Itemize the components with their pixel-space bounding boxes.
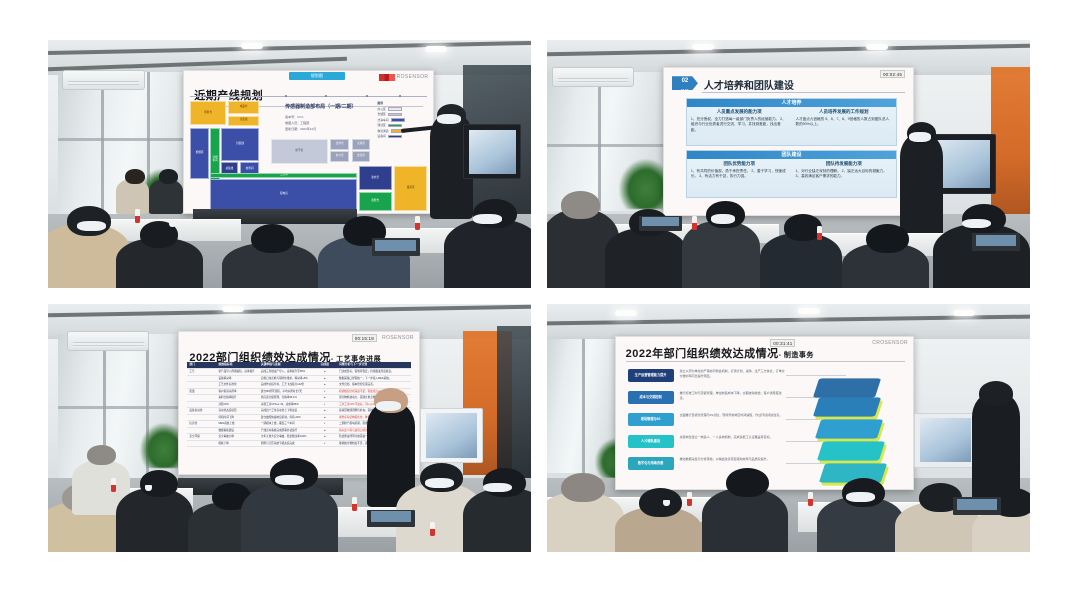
cell: 关键工序CPK≥1.33，达成率86%	[259, 402, 313, 408]
audience-head	[140, 470, 179, 497]
layout-block: 配电房	[210, 179, 357, 210]
section-number: 02	[682, 78, 689, 84]
cell: 安全环保	[187, 434, 216, 440]
cell: 自动化改造项目	[216, 408, 258, 414]
audience-person	[760, 233, 842, 288]
column-header: 问题分析与下一步计划	[337, 362, 411, 368]
layout-block: 检测区	[190, 128, 209, 179]
stack-label: 生产运营管理能力提升	[628, 369, 674, 382]
cell: 停机时间下降	[216, 415, 258, 421]
section-column: 人员培养发展的工作规划 人才盘点九宫格的 5、6、7、8、9宫格的人数占到团队总…	[791, 107, 896, 135]
brand-logo: CROSENSOR	[872, 340, 908, 346]
logo-mark-icon	[379, 74, 395, 81]
section-column: 团队待发展能力项 1、对行业缺乏深刻的理解。 2、缺乏远大目标的凝聚力。 3、高…	[791, 159, 896, 181]
column-header: 关键举措与进展	[259, 362, 313, 368]
water-bottle	[808, 492, 813, 506]
cell: 安全事故为零	[216, 434, 258, 440]
cell: ◐	[313, 421, 338, 427]
cell: ●	[313, 376, 338, 382]
layout-block: 包装线	[228, 116, 259, 126]
cell: ◐	[313, 389, 338, 395]
audience-person	[682, 221, 759, 288]
cell	[187, 402, 216, 408]
diagram-title: 传感器制造部布局（一期/二期）	[285, 103, 356, 110]
water-bottle	[687, 492, 692, 506]
title-divider	[702, 92, 905, 93]
stack-desc: 推动数据采集与分析落地，以精益改善项目驱动效率与品质双提升。	[680, 457, 785, 462]
cell: 来料合格率提升	[216, 395, 258, 401]
layout-block: 缓存区	[394, 166, 427, 211]
layout-block: 烘干房	[271, 139, 328, 164]
legend-title: 图例	[377, 101, 425, 105]
timestamp-badge: 00:15:18	[352, 334, 377, 342]
cell: ●	[313, 408, 338, 414]
cell: ●	[313, 415, 338, 421]
cell: 工艺文件标准化	[216, 382, 258, 388]
column-body: 人才盘点九宫格的 5、6、7、8、9宫格的人数占到团队总人数的90%以上。	[795, 117, 892, 128]
ceiling-light	[241, 43, 263, 49]
title-divider	[626, 361, 905, 362]
meeting-room-scene: 规划图 ROSENSOR 近期产线规划	[48, 40, 531, 288]
stack-desc: 关键岗位建立一岗多人、一人多岗机制，完成多能工认证覆盖率目标。	[680, 435, 785, 440]
cell	[187, 395, 216, 401]
section-column: 团队优势能力项 1、有共同的价值观，勇于承担责任。 2、善于学习，快速成长。 3…	[687, 159, 792, 181]
legend-label: 物流通道	[377, 129, 388, 133]
water-bottle	[352, 497, 357, 511]
layout-block: 实验室	[352, 139, 371, 150]
legend-swatch	[388, 113, 402, 117]
cell: 信息化	[187, 421, 216, 427]
audience-head	[125, 169, 144, 184]
slide-top-left: 规划图 ROSENSOR 近期产线规划	[184, 71, 433, 213]
cell: 建立故障快速响应机制，停机-23%	[259, 415, 313, 421]
glass-partition	[497, 326, 531, 485]
layout-block: 办公室	[330, 151, 349, 162]
audience-person	[702, 488, 789, 552]
stack-label: 人才梯队建设	[628, 435, 674, 448]
ceiling-light	[425, 46, 447, 52]
ceiling-light	[692, 44, 714, 50]
section-number-badge: 02 PART	[672, 76, 698, 90]
cell: 设备自动化	[187, 408, 216, 414]
audience-face-mask	[425, 478, 454, 488]
layout-block: 质检台	[359, 192, 392, 211]
legend-swatch	[388, 124, 402, 128]
audience-person	[241, 483, 338, 552]
audience-face-mask	[711, 214, 735, 224]
cell	[187, 428, 216, 434]
water-bottle	[135, 209, 140, 223]
stack-plate	[814, 420, 882, 439]
layout-block: 工具间	[210, 173, 357, 179]
legend-label: 洁净车间	[377, 118, 388, 122]
cell	[187, 415, 216, 421]
audience-face-mask	[846, 492, 875, 502]
audience-head	[639, 488, 682, 518]
ceiling-light	[798, 308, 820, 314]
stack-desc: 建立以周为单位的产销协同例会机制，打通计划、采购、生产三方信息，订单交付准时率同…	[680, 369, 785, 378]
column-header: 团队优势能力项	[691, 161, 788, 167]
column-body: 1、有共同的价值观，勇于承担责任。 2、善于学习，快速成长。 3、有活力有干劲，…	[691, 169, 788, 180]
photo-collage: 规划图 ROSENSOR 近期产线规划	[48, 40, 1032, 552]
column-header: 人员重点发展的能力项	[691, 109, 788, 115]
diagram-meta-0: 版本号：V2.0	[285, 115, 303, 120]
cell	[187, 376, 216, 382]
diagram-meta-1: 制图人员：工程部	[285, 121, 309, 126]
audience-person	[116, 179, 150, 214]
stack-label: 现场管理与6S	[628, 413, 674, 426]
cell: 设备稼动率	[216, 376, 258, 382]
cell: 新产品导入周期缩短、良率提升	[216, 369, 258, 375]
column-body: 1、充分授权，全力打造每一级部门负责人的经营能力。 2、组织与行业优秀者进行交流…	[691, 117, 788, 133]
cell: ●	[313, 395, 338, 401]
legend-label: 办公区	[377, 107, 385, 111]
air-conditioner	[552, 67, 634, 87]
audience-head	[87, 445, 116, 465]
cell: 过程CPK	[216, 402, 258, 408]
cell: ◐	[313, 441, 338, 447]
water-bottle	[692, 216, 697, 230]
laptop	[972, 233, 1020, 250]
column-header: 完成度	[313, 362, 338, 368]
photo-panel-top-left: 规划图 ROSENSOR 近期产线规划	[48, 40, 531, 288]
audience-person	[605, 228, 687, 288]
cell: ●	[313, 382, 338, 388]
audience-face-mask	[483, 483, 512, 493]
photo-panel-bottom-right: 00:31:41 CROSENSOR 2022年部门组织绩效达成情况- 制造事务…	[547, 304, 1030, 552]
brand-logo: ROSENSOR	[382, 335, 414, 341]
laptop	[953, 497, 1001, 514]
cell: 完成作业指导书、工艺卡改版共142份	[259, 382, 313, 388]
stack-desc: 推行标准工时与定额管理，单位制造成本下降，交期波动收敛，客户满意度改善。	[680, 391, 785, 400]
legend-swatch	[391, 118, 405, 122]
stack-plate	[812, 379, 880, 398]
ceiling-light	[615, 310, 637, 316]
section-team-building: 团队建设 团队优势能力项 1、有共同的价值观，勇于承担责任。 2、善于学习，快速…	[686, 150, 897, 198]
slide-title-main: 2022年部门组织绩效达成情况	[626, 348, 779, 360]
slide-bottom-right: 00:31:41 CROSENSOR 2022年部门组织绩效达成情况- 制造事务…	[616, 337, 913, 489]
audience-face-mask	[275, 475, 304, 485]
coffee-cup	[663, 500, 670, 506]
section-column: 人员重点发展的能力项 1、充分授权，全力打造每一级部门负责人的经营能力。 2、组…	[687, 107, 792, 135]
cell: ●	[313, 428, 338, 434]
laptop	[367, 510, 415, 527]
accent-wall	[991, 67, 1030, 216]
stack-plate	[816, 442, 884, 461]
audience-head	[251, 224, 294, 254]
projector-screen: 规划图 ROSENSOR 近期产线规划	[183, 70, 434, 214]
cell: 全年无重大安全事故，隐患整改率100%	[259, 434, 313, 440]
layout-block: 原料仓	[190, 101, 226, 126]
slide-top-right: 00:02:45 02 PART 人才培养和团队建设 人才培养 人员重点发展的能…	[664, 68, 913, 215]
audience-person	[149, 179, 183, 214]
meeting-room-scene: 00:31:41 CROSENSOR 2022年部门组织绩效达成情况- 制造事务…	[547, 304, 1030, 552]
diagram-meta-2: 更新日期：2022年12月	[285, 127, 316, 132]
logo-text: CROSENSOR	[872, 340, 908, 346]
diagram-legend: 图例 办公区 仓储区 洁净车间 测试区 物流通道 设备间	[377, 101, 425, 140]
layout-block: 更衣室	[359, 166, 392, 191]
projector-screen: 00:31:41 CROSENSOR 2022年部门组织绩效达成情况- 制造事务…	[615, 336, 914, 490]
water-bottle	[817, 226, 822, 240]
cell: ◐	[313, 402, 338, 408]
ceiling-light	[866, 44, 888, 50]
brand-logo: ROSENSOR	[379, 74, 429, 81]
whiteboard-monitor	[420, 408, 483, 463]
audience-head	[726, 468, 769, 498]
cell: 数据采集口径需统一，下一步接入MES系统。	[337, 376, 411, 382]
presenter-face-mask	[376, 401, 400, 411]
logo-text: ROSENSOR	[397, 74, 429, 80]
cell: 实施日常点检与预防性维护，稼动率+8%	[259, 376, 313, 382]
audience-head	[866, 224, 909, 254]
air-conditioner	[62, 70, 144, 90]
audience-head	[270, 458, 318, 490]
photo-panel-top-right: 00:02:45 02 PART 人才培养和团队建设 人才培养 人员重点发展的能…	[547, 40, 1030, 288]
water-bottle	[430, 522, 435, 536]
section-talent-development: 人才培养 人员重点发展的能力项 1、充分授权，全力打造每一级部门负责人的经营能力…	[686, 98, 897, 146]
section-header: 人才培养	[687, 99, 896, 107]
cell: 已达成目标，需维持稳定；持续跟进月度复盘。	[337, 369, 411, 375]
side-monitor	[914, 413, 977, 468]
cell: 一期模块上线，覆盖三个车间	[259, 421, 313, 427]
water-bottle	[415, 216, 420, 230]
cell: 完成三条线试产导入，良率提升至96%	[259, 369, 313, 375]
audience-face-mask	[962, 219, 991, 229]
audience-person	[463, 488, 531, 552]
audience-person	[444, 219, 531, 288]
audience-head	[561, 473, 604, 503]
cell: 数据看板建设	[216, 428, 258, 434]
cell: 供应商分级管理，合格率99.1%	[259, 395, 313, 401]
photo-panel-bottom-left: 00:15:18 ROSENSOR 2022部门组织绩效达成情况- 工艺事务进展…	[48, 304, 531, 552]
cell	[187, 382, 216, 388]
cell: 质量	[187, 389, 216, 395]
stack-label: 数字化与持续改善	[628, 457, 674, 470]
cell	[187, 441, 216, 447]
legend-label: 测试区	[377, 123, 385, 127]
audience-face-mask	[77, 221, 106, 231]
ceiling-light	[222, 306, 244, 312]
laptop	[639, 216, 682, 231]
section-caption: PART	[672, 86, 698, 95]
column-header: 团队待发展能力项	[795, 161, 892, 167]
coffee-cup	[145, 485, 152, 491]
cell: 照明与空压系统节能改造完成	[259, 441, 313, 447]
cell: 产线实时看板完成部署并试运行	[259, 428, 313, 434]
cell: 文件归档、版本管控仍需完善。	[337, 382, 411, 388]
presenter-face-mask	[909, 132, 931, 142]
cell: 工艺	[187, 369, 216, 375]
stack-desc: 全面推行目视化管理与6S点检，现场异常响应时间缩短，作业环境持续改善。	[680, 413, 785, 418]
slide-subtitle: - 制造事务	[779, 352, 814, 359]
cell: 完成四个工位自动化上下料改造	[259, 408, 313, 414]
meeting-room-scene: 00:02:45 02 PART 人才培养和团队建设 人才培养 人员重点发展的能…	[547, 40, 1030, 288]
cell: MES系统上线	[216, 421, 258, 427]
legend-label: 设备间	[377, 134, 385, 138]
cell: ●	[313, 434, 338, 440]
coffee-cup	[169, 221, 176, 227]
legend-swatch	[388, 135, 402, 139]
water-bottle	[111, 478, 116, 492]
audience-person	[116, 488, 193, 552]
air-conditioner	[67, 331, 149, 351]
meeting-room-scene: 00:15:18 ROSENSOR 2022部门组织绩效达成情况- 工艺事务进展…	[48, 304, 531, 552]
logo-text: ROSENSOR	[382, 335, 414, 341]
cell: 客户投诉关闭率	[216, 389, 258, 395]
layout-block: 封装线	[221, 128, 259, 162]
legend-swatch	[388, 107, 402, 111]
stack-plate	[812, 398, 880, 417]
stack-label: 成本与交期控制	[628, 391, 674, 404]
section-header: 团队建设	[687, 151, 896, 159]
presenter-face-mask	[437, 114, 461, 124]
layout-block: 洁净室	[330, 139, 349, 150]
side-monitor	[463, 124, 521, 179]
layout-block: 会议室	[352, 151, 371, 162]
slide-title: 2022年部门组织绩效达成情况- 制造事务	[626, 345, 814, 361]
column-body: 1、对行业缺乏深刻的理解。 2、缺乏远大目标的凝聚力。 3、高效满足客户需求的能…	[795, 169, 892, 180]
table-header-row: 部门 绩效指标项 关键举措与进展 完成度 问题分析与下一步计划	[187, 362, 411, 369]
audience-head	[159, 169, 178, 184]
column-header: 部门	[187, 362, 216, 368]
factory-layout-diagram: 原料仓 成品仓 包装线 传感器制造部布局（一期/二期） 版本号：V2.0 制图人…	[190, 99, 427, 211]
cell: 能耗下降	[216, 441, 258, 447]
projector-screen: 00:02:45 02 PART 人才培养和团队建设 人才培养 人员重点发展的能…	[663, 67, 914, 216]
cell: ●	[313, 369, 338, 375]
slide-title: 人才培养和团队建设	[704, 77, 794, 92]
cell: 建立8D闭环流程，平均关闭时长7天	[259, 389, 313, 395]
audience-head	[561, 191, 600, 218]
layout-block: 成品仓	[228, 101, 259, 114]
column-header: 绩效指标项	[216, 362, 258, 368]
presenter-body	[900, 134, 943, 238]
column-header: 人员培养发展的工作规划	[795, 109, 892, 115]
legend-label: 仓储区	[377, 112, 385, 116]
laptop	[372, 238, 420, 255]
presenter-head	[979, 381, 1013, 406]
timestamp-badge: 00:02:45	[880, 70, 905, 78]
presenter-body	[972, 393, 1020, 502]
slide-tag: 规划图	[289, 72, 345, 80]
audience-face-mask	[473, 214, 502, 224]
ceiling-light	[953, 310, 975, 316]
